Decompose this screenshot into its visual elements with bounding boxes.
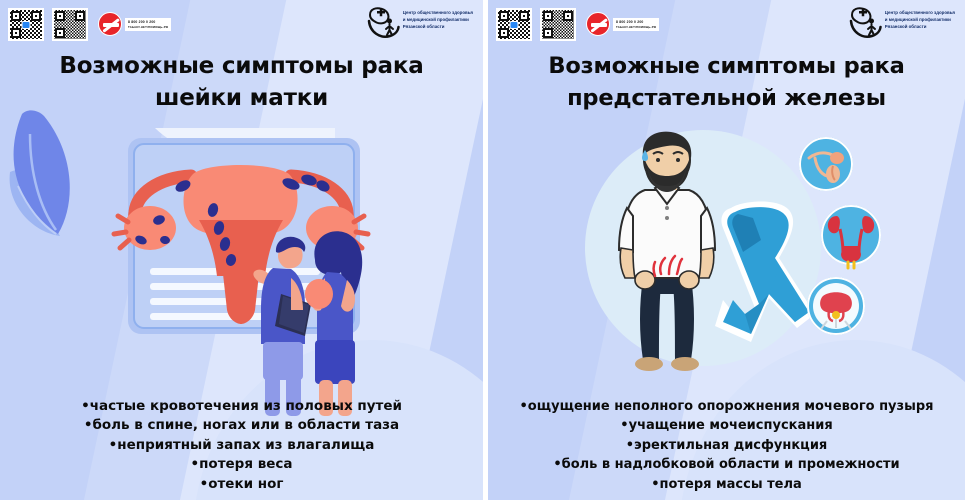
qr-code-vk[interactable]	[496, 8, 532, 41]
panel-header-left: 8 800 200 0 200 ТАБАКУ.НЕТ/ПОМОЩЬ.РФ	[0, 0, 483, 48]
symptom-item: •эректильная дисфункция	[488, 436, 965, 456]
title-line-1: Возможные симптомы рака	[0, 50, 483, 82]
symptom-list-left: •частые кровотечения из половых путей •б…	[0, 397, 483, 495]
page-title-right: Возможные симптомы рака предстательной ж…	[488, 50, 965, 114]
illustration-uterus-diagram	[95, 128, 385, 368]
page-title-left: Возможные симптомы рака шейки матки	[0, 50, 483, 114]
vk-icon	[510, 21, 519, 29]
symptom-item: •потеря веса	[0, 455, 483, 475]
hotline-phone: 8 800 200 0 200	[128, 20, 168, 24]
symptom-item: •частые кровотечения из половых путей	[0, 397, 483, 417]
title-line-2: предстательной железы	[488, 82, 965, 114]
hotline-phone: 8 800 200 0 200	[616, 20, 656, 24]
qr-code-plain[interactable]	[540, 8, 576, 41]
title-line-2: шейки матки	[0, 82, 483, 114]
no-smoking-badge: 8 800 200 0 200 ТАБАКУ.НЕТ/ПОМОЩЬ.РФ	[586, 12, 659, 36]
poster-pair: 8 800 200 0 200 ТАБАКУ.НЕТ/ПОМОЩЬ.РФ	[0, 0, 965, 500]
leaf-decoration	[0, 108, 92, 238]
no-smoking-icon	[586, 12, 610, 36]
qr-code-vk[interactable]	[8, 8, 44, 41]
panel-header-right: 8 800 200 0 200 ТАБАКУ.НЕТ/ПОМОЩЬ.РФ	[488, 0, 965, 48]
no-smoking-icon	[98, 12, 122, 36]
org-logo: Центр общественного здоровья и медицинск…	[367, 6, 473, 40]
illustration-prostate-awareness	[583, 128, 883, 373]
symptom-item: •боль в спине, ногах или в области таза	[0, 416, 483, 436]
symptom-item: •учащение мочеиспускания	[488, 416, 965, 436]
symptom-list-right: •ощущение неполного опорожнения мочевого…	[488, 397, 965, 495]
org-line-1: Центр общественного здоровья	[885, 10, 955, 15]
symptom-item: •отеки ног	[0, 475, 483, 495]
health-center-logo-icon	[367, 6, 399, 40]
symptom-item: •потеря массы тела	[488, 475, 965, 495]
org-line-2: и медицинской профилактики	[885, 17, 955, 22]
symptom-item: •ощущение неполного опорожнения мочевого…	[488, 397, 965, 417]
symptom-item: •боль в надлобковой области и промежност…	[488, 455, 965, 475]
org-line-3: Рязанской области	[885, 24, 955, 29]
panel-cervical-cancer: 8 800 200 0 200 ТАБАКУ.НЕТ/ПОМОЩЬ.РФ	[0, 0, 483, 500]
hotline-subtitle: ТАБАКУ.НЕТ/ПОМОЩЬ.РФ	[128, 25, 168, 29]
org-line-3: Рязанской области	[403, 24, 473, 29]
health-center-logo-icon	[849, 6, 881, 40]
no-smoking-badge: 8 800 200 0 200 ТАБАКУ.НЕТ/ПОМОЩЬ.РФ	[98, 12, 171, 36]
reproductive-system-icon	[799, 137, 853, 191]
prostate-icon	[807, 277, 865, 335]
org-logo: Центр общественного здоровья и медицинск…	[849, 6, 955, 40]
org-line-1: Центр общественного здоровья	[403, 10, 473, 15]
vk-icon	[22, 21, 31, 29]
symptom-item: •неприятный запах из влагалища	[0, 436, 483, 456]
hotline-subtitle: ТАБАКУ.НЕТ/ПОМОЩЬ.РФ	[616, 25, 656, 29]
org-line-2: и медицинской профилактики	[403, 17, 473, 22]
title-line-1: Возможные симптомы рака	[488, 50, 965, 82]
panel-prostate-cancer: 8 800 200 0 200 ТАБАКУ.НЕТ/ПОМОЩЬ.РФ	[488, 0, 965, 500]
qr-code-plain[interactable]	[52, 8, 88, 41]
kidneys-bladder-icon	[821, 205, 881, 268]
